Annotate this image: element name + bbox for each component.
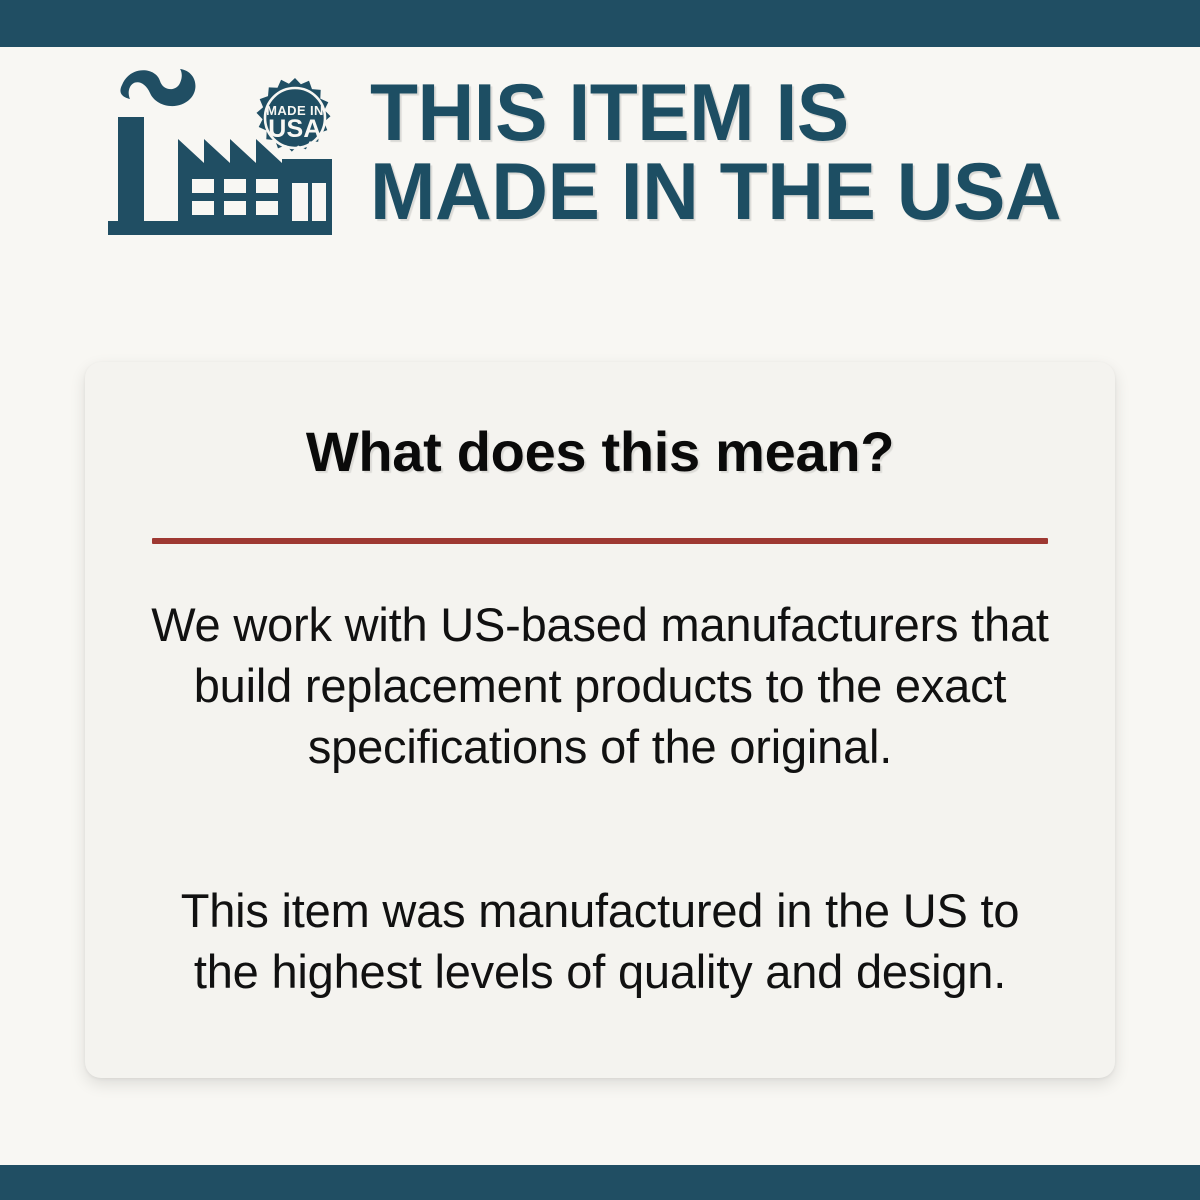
header: MADE IN USA THIS ITEM IS MADE IN THE USA bbox=[100, 58, 1160, 248]
card-paragraph-2: This item was manufactured in the US to … bbox=[145, 880, 1055, 1002]
card-heading: What does this mean? bbox=[85, 424, 1115, 480]
factory-icon: MADE IN USA bbox=[100, 63, 340, 243]
bottom-accent-bar bbox=[0, 1165, 1200, 1200]
page-title: THIS ITEM IS MADE IN THE USA bbox=[370, 74, 1136, 233]
info-card: What does this mean? We work with US-bas… bbox=[85, 362, 1115, 1078]
top-accent-bar bbox=[0, 0, 1200, 47]
svg-text:USA: USA bbox=[268, 115, 321, 143]
card-paragraph-1: We work with US-based manufacturers that… bbox=[145, 594, 1055, 777]
headline-line-2: MADE IN THE USA bbox=[370, 153, 1136, 232]
made-in-usa-badge-icon: MADE IN USA bbox=[252, 73, 334, 155]
red-divider bbox=[152, 538, 1048, 544]
headline-line-1: THIS ITEM IS bbox=[370, 74, 1136, 153]
